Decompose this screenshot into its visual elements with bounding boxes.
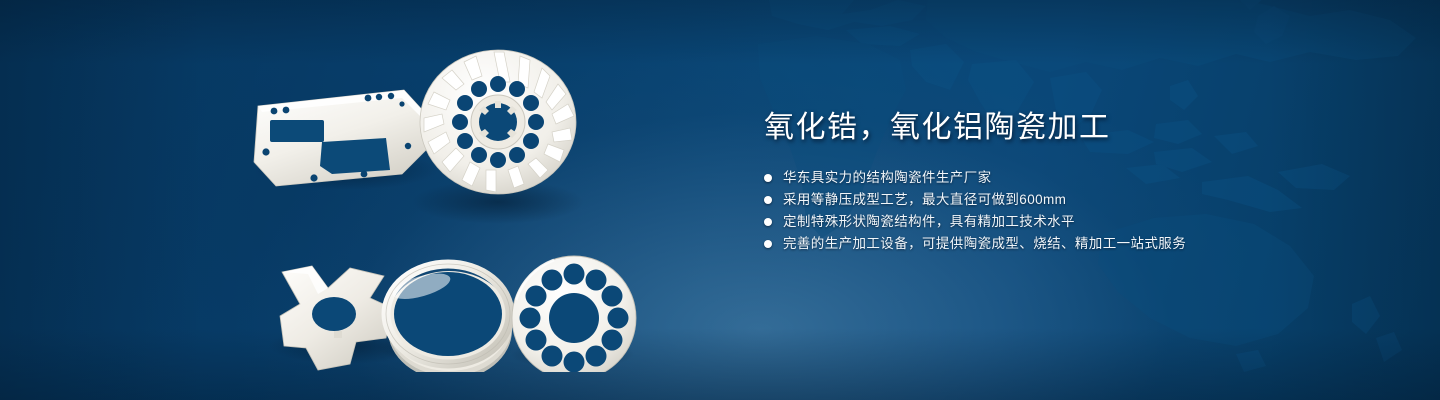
banner-headline: 氧化锆，氧化铝陶瓷加工 — [764, 108, 1404, 148]
bullet-item: 完善的生产加工设备，可提供陶瓷成型、烧结、精加工一站式服务 — [764, 233, 1404, 254]
bullet-dot-icon — [764, 240, 772, 248]
bullet-item: 采用等静压成型工艺，最大直径可做到600mm — [764, 189, 1404, 210]
bullet-dot-icon — [764, 174, 772, 182]
bullet-text: 采用等静压成型工艺，最大直径可做到600mm — [783, 189, 1066, 210]
ceramic-products-image — [236, 42, 666, 372]
ceramic-seal-rings — [386, 264, 512, 372]
ceramic-machined-plate — [254, 90, 426, 186]
ceramic-perforated-disc — [512, 256, 636, 372]
bullet-text: 定制特殊形状陶瓷结构件，具有精加工技术水平 — [783, 211, 1075, 232]
bullet-text: 华东具实力的结构陶瓷件生产厂家 — [783, 167, 992, 188]
banner-bullet-list: 华东具实力的结构陶瓷件生产厂家 采用等静压成型工艺，最大直径可做到600mm 定… — [764, 167, 1404, 254]
ceramic-vaned-impeller — [420, 50, 576, 194]
banner-copy: 氧化锆，氧化铝陶瓷加工 华东具实力的结构陶瓷件生产厂家 采用等静压成型工艺，最大… — [764, 108, 1404, 255]
bullet-dot-icon — [764, 218, 772, 226]
hero-banner: 氧化锆，氧化铝陶瓷加工 华东具实力的结构陶瓷件生产厂家 采用等静压成型工艺，最大… — [0, 0, 1440, 400]
bullet-item: 定制特殊形状陶瓷结构件，具有精加工技术水平 — [764, 211, 1404, 232]
bullet-dot-icon — [764, 196, 772, 204]
bullet-item: 华东具实力的结构陶瓷件生产厂家 — [764, 167, 1404, 188]
bullet-text: 完善的生产加工设备，可提供陶瓷成型、烧结、精加工一站式服务 — [783, 233, 1186, 254]
